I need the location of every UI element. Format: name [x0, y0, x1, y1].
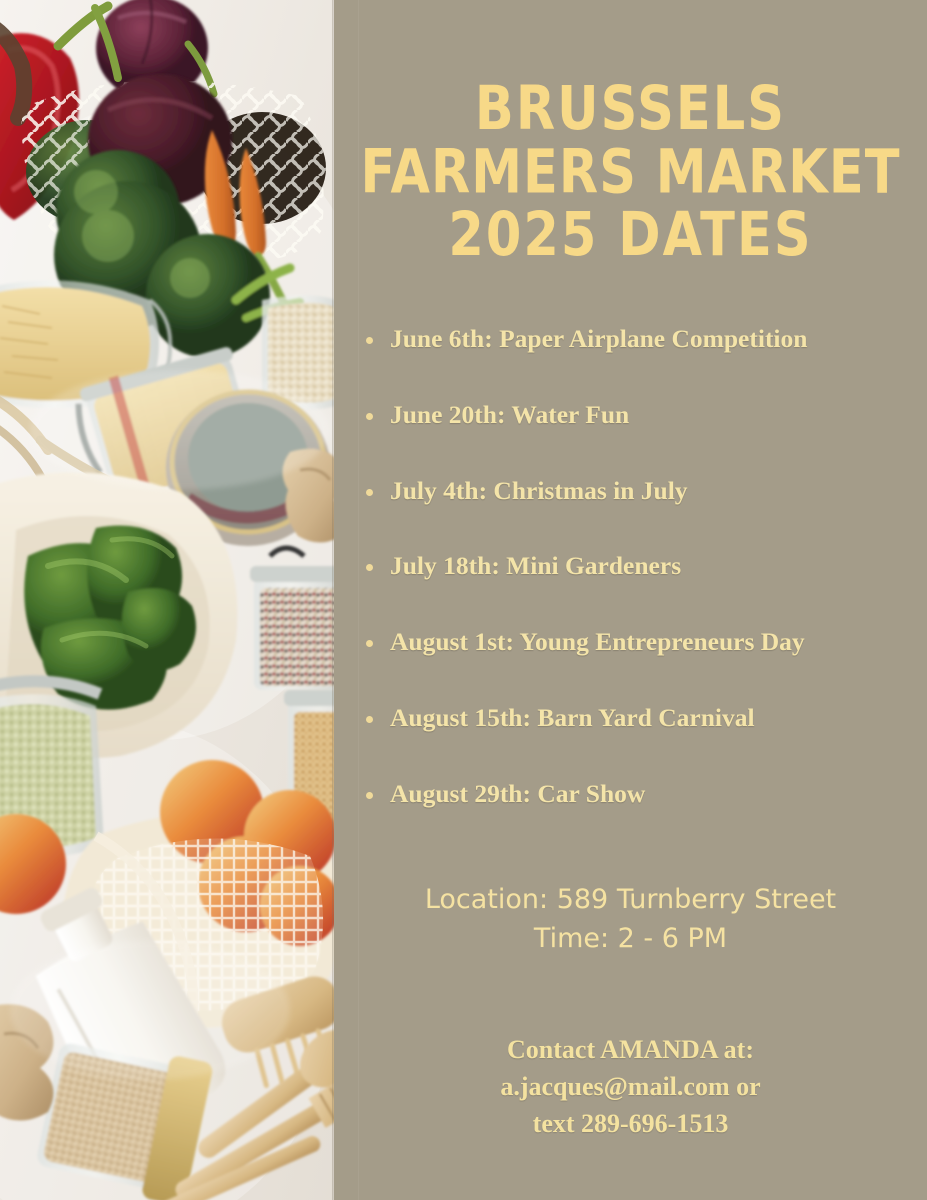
- event-dates-list: June 6th: Paper Airplane Competition Jun…: [360, 326, 920, 856]
- bullet-dot-icon: [366, 413, 373, 420]
- poster-canvas: BRUSSELS FARMERS MARKET 2025 DATES June …: [0, 0, 927, 1200]
- contact-phone: text 289-696-1513: [334, 1106, 927, 1143]
- bullet-dot-icon: [366, 337, 373, 344]
- contact-details: Contact AMANDA at: a.jacques@mail.com or…: [334, 1032, 927, 1143]
- time-text: Time: 2 - 6 PM: [334, 919, 927, 958]
- list-item: August 29th: Car Show: [360, 781, 920, 808]
- title-line-1: BRUSSELS: [328, 78, 927, 141]
- bullet-dot-icon: [366, 564, 373, 571]
- list-item: August 15th: Barn Yard Carnival: [360, 705, 920, 732]
- title-line-2: FARMERS MARKET: [328, 141, 927, 204]
- produce-photo-illustration: [0, 0, 334, 1200]
- event-label: July 4th: Christmas in July: [390, 476, 688, 505]
- list-item: July 4th: Christmas in July: [360, 478, 920, 505]
- list-item: July 18th: Mini Gardeners: [360, 553, 920, 580]
- bullet-dot-icon: [366, 716, 373, 723]
- event-label: July 18th: Mini Gardeners: [390, 551, 681, 580]
- event-label: August 15th: Barn Yard Carnival: [390, 703, 755, 732]
- bullet-dot-icon: [366, 640, 373, 647]
- list-item: June 6th: Paper Airplane Competition: [360, 326, 920, 353]
- event-label: June 20th: Water Fun: [390, 400, 629, 429]
- title-line-3: 2025 DATES: [328, 204, 927, 267]
- bullet-dot-icon: [366, 489, 373, 496]
- event-label: June 6th: Paper Airplane Competition: [390, 324, 807, 353]
- list-item: June 20th: Water Fun: [360, 402, 920, 429]
- event-label: August 1st: Young Entrepreneurs Day: [390, 627, 805, 656]
- location-text: Location: 589 Turnberry Street: [334, 880, 927, 919]
- venue-details: Location: 589 Turnberry Street Time: 2 -…: [334, 880, 927, 958]
- poster-title: BRUSSELS FARMERS MARKET 2025 DATES: [328, 78, 927, 266]
- contact-email: a.jacques@mail.com or: [334, 1069, 927, 1106]
- event-label: August 29th: Car Show: [390, 779, 645, 808]
- poster-text-panel: BRUSSELS FARMERS MARKET 2025 DATES June …: [334, 0, 927, 1200]
- list-item: August 1st: Young Entrepreneurs Day: [360, 629, 920, 656]
- produce-flatlay-photo: [0, 0, 334, 1200]
- bullet-dot-icon: [366, 792, 373, 799]
- contact-line-1: Contact AMANDA at:: [334, 1032, 927, 1069]
